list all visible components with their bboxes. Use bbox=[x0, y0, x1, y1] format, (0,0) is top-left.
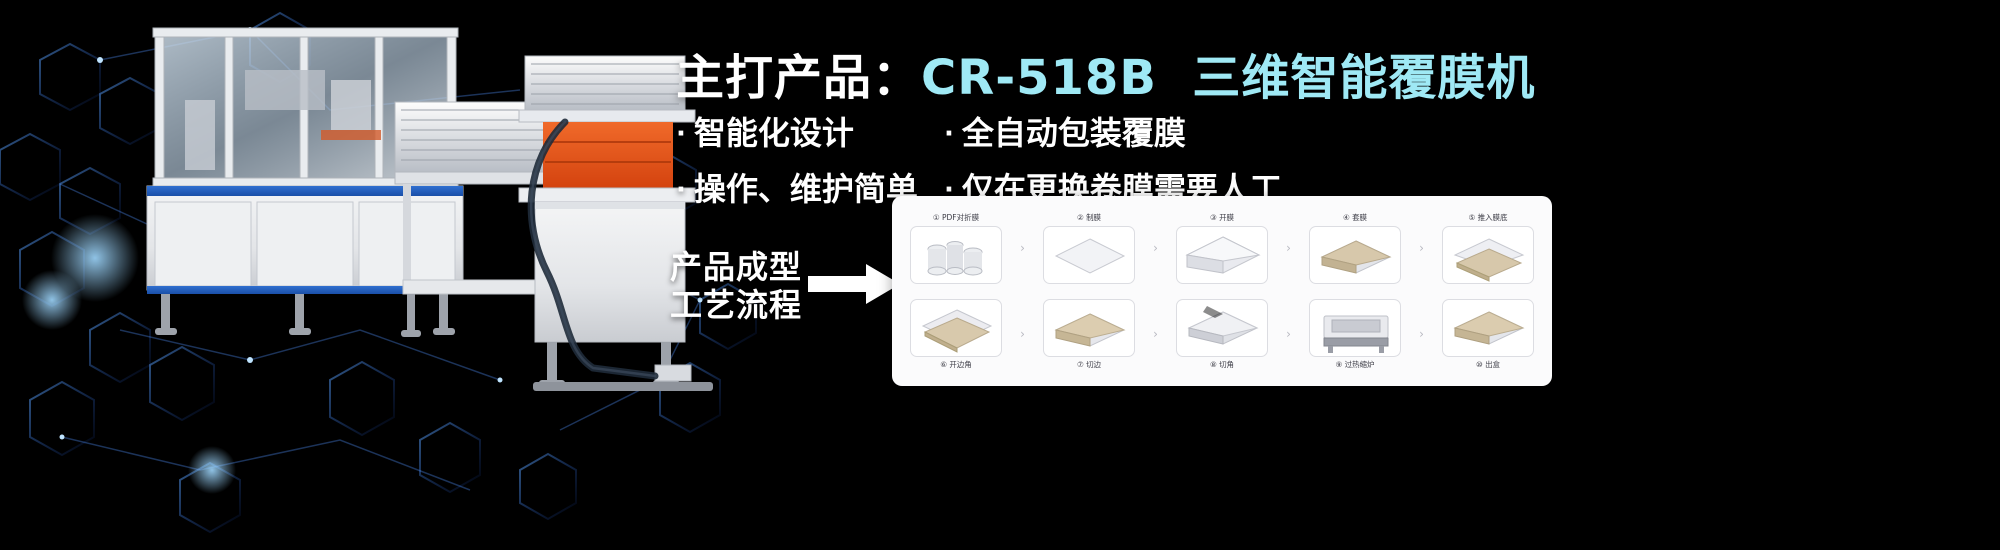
flow-separator: › bbox=[1017, 241, 1029, 255]
feature-item-1: ·智能化设计 bbox=[676, 108, 944, 154]
flow-step-3: ③ 开膜 bbox=[1168, 213, 1276, 284]
flow-step-6-label: 开边角 bbox=[949, 360, 972, 369]
flow-step-4-num: ④ bbox=[1343, 213, 1350, 222]
right-arrow-icon bbox=[808, 262, 900, 306]
flow-step-6-num: ⑥ bbox=[940, 360, 947, 369]
process-flow-top-row: ① PDF对折膜 › ② 制膜 bbox=[902, 205, 1542, 291]
process-flow-bottom-row: ⑥ 开边角 › ⑦ 切边 › bbox=[902, 291, 1542, 377]
flow-step-4-label: 套膜 bbox=[1352, 213, 1367, 222]
flow-step-7-num: ⑦ bbox=[1077, 360, 1084, 369]
flow-step-10-label: 出盒 bbox=[1485, 360, 1500, 369]
flow-step-1: ① PDF对折膜 bbox=[902, 213, 1010, 284]
flow-step-1-num: ① bbox=[933, 213, 940, 222]
flow-step-9-thumb bbox=[1309, 299, 1401, 357]
flow-separator: › bbox=[1283, 241, 1295, 255]
feature-item-2-label: 全自动包装覆膜 bbox=[962, 114, 1186, 152]
flow-separator: › bbox=[1283, 327, 1295, 341]
flow-step-9-num: ⑨ bbox=[1335, 360, 1342, 369]
bullet-dot-icon: · bbox=[676, 175, 694, 205]
flow-separator: › bbox=[1150, 327, 1162, 341]
flow-step-4-thumb bbox=[1309, 226, 1401, 284]
flow-separator: › bbox=[1017, 327, 1029, 341]
flow-step-2: ② 制膜 bbox=[1035, 213, 1143, 284]
flow-separator: › bbox=[1416, 327, 1428, 341]
flow-step-2-thumb bbox=[1043, 226, 1135, 284]
flow-step-2-label: 制膜 bbox=[1086, 213, 1101, 222]
feature-item-3-label: 操作、维护简单 bbox=[694, 170, 918, 208]
bullet-dot-icon: · bbox=[676, 119, 694, 149]
flow-step-4: ④ 套膜 bbox=[1301, 213, 1409, 284]
product-banner: 主打产品：CR-518B 三维智能覆膜机 ·智能化设计 ·全自动包装覆膜 ·操作… bbox=[0, 0, 2000, 550]
flow-step-8-num: ⑧ bbox=[1210, 360, 1217, 369]
title-product: 三维智能覆膜机 bbox=[1192, 50, 1535, 106]
flow-step-5-label: 推入膜底 bbox=[1478, 213, 1508, 222]
title-prefix: 主打产品： bbox=[676, 50, 921, 106]
flow-step-7-label: 切边 bbox=[1086, 360, 1101, 369]
flow-step-8-thumb bbox=[1176, 299, 1268, 357]
flow-step-6-thumb bbox=[910, 299, 1002, 357]
flow-step-8: ⑧ 切角 bbox=[1168, 299, 1276, 370]
title-model: CR-518B bbox=[921, 50, 1157, 106]
flow-step-10-thumb bbox=[1442, 299, 1534, 357]
flow-step-10: ⑩ 出盒 bbox=[1434, 299, 1542, 370]
flow-step-3-label: 开膜 bbox=[1219, 213, 1234, 222]
flow-step-1-thumb bbox=[910, 226, 1002, 284]
flow-step-5-num: ⑤ bbox=[1468, 213, 1475, 222]
flow-step-9: ⑨ 过热缩炉 bbox=[1301, 299, 1409, 370]
flow-step-9-label: 过热缩炉 bbox=[1345, 360, 1375, 369]
banner-content: 主打产品：CR-518B 三维智能覆膜机 ·智能化设计 ·全自动包装覆膜 ·操作… bbox=[660, 0, 2000, 550]
flow-step-5-thumb bbox=[1442, 226, 1534, 284]
flow-step-1-label: PDF对折膜 bbox=[942, 213, 979, 222]
process-flow-panel: ① PDF对折膜 › ② 制膜 bbox=[892, 196, 1552, 386]
feature-item-1-label: 智能化设计 bbox=[694, 114, 854, 152]
page-title: 主打产品：CR-518B 三维智能覆膜机 bbox=[676, 38, 1535, 108]
flow-step-2-num: ② bbox=[1077, 213, 1084, 222]
feature-row: ·智能化设计 ·全自动包装覆膜 bbox=[676, 108, 1274, 154]
flow-step-3-thumb bbox=[1176, 226, 1268, 284]
flow-step-10-num: ⑩ bbox=[1476, 360, 1483, 369]
flow-step-3-num: ③ bbox=[1210, 213, 1217, 222]
flow-separator: › bbox=[1416, 241, 1428, 255]
flow-step-5: ⑤ 推入膜底 bbox=[1434, 213, 1542, 284]
flow-step-7-thumb bbox=[1043, 299, 1135, 357]
flow-step-7: ⑦ 切边 bbox=[1035, 299, 1143, 370]
flow-step-8-label: 切角 bbox=[1219, 360, 1234, 369]
feature-item-2: ·全自动包装覆膜 bbox=[944, 108, 1274, 154]
flow-separator: › bbox=[1150, 241, 1162, 255]
flow-step-6: ⑥ 开边角 bbox=[902, 299, 1010, 370]
bullet-dot-icon: · bbox=[944, 119, 962, 149]
